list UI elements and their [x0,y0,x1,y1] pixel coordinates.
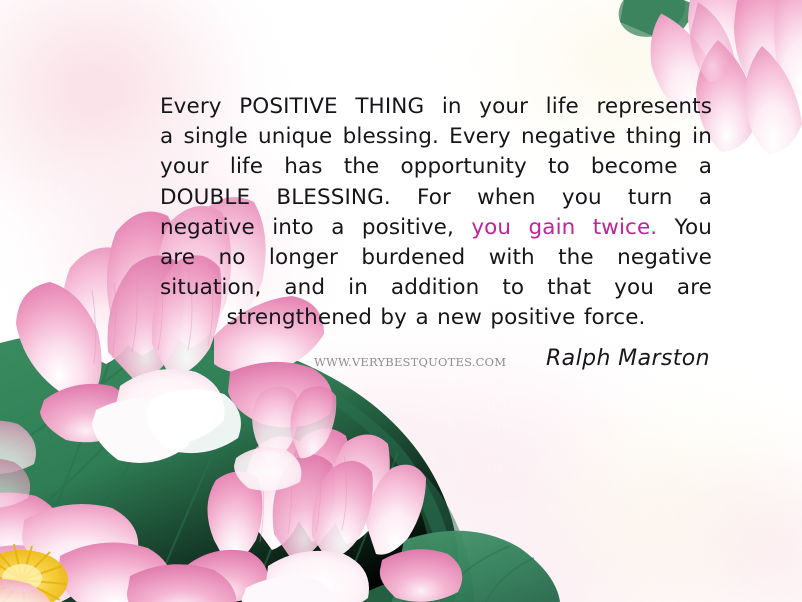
background-blossom-bottom-right [640,440,802,602]
quote-line-5-part-1: negative into a positive, [160,215,471,240]
quote-line-7: situation, and in addition to that you a… [160,273,712,303]
lily-pad-small-group [392,531,560,602]
quote-line-6: are no longer burdened with the negative [160,243,712,273]
quote-line-8: strengthened by a new positive force. [160,303,712,333]
quote-image-canvas: Every POSITIVE THING in your life repres… [0,0,802,602]
background-blossom-bottom-left [250,350,470,550]
lotus-bottom-left-group [0,493,237,602]
quote-line-2: a single unique blessing. Every negative… [160,122,712,152]
lotus-left-edge-faint-group [0,420,36,507]
background-blossom-bottom-center [380,500,700,602]
background-blossom-cream-bottom-right [520,390,802,602]
quote-author: Ralph Marston [546,346,710,371]
quote-line-5-part-2: You [657,215,712,240]
lotus-stamen-cluster [0,544,68,602]
quote-line-3: your life has the opportunity to become … [160,152,712,182]
lotus-bottom-center-group [184,428,462,602]
lotus-bottom-right-small-group [234,386,336,491]
quote-line-4: DOUBLE BLESSING. For when you turn a [160,183,712,213]
quote-highlight-phrase: you gain twice. [471,215,657,240]
quote-text-block: Every POSITIVE THING in your life repres… [160,92,712,334]
quote-line-5: negative into a positive, you gain twice… [160,213,712,243]
quote-line-1: Every POSITIVE THING in your life repres… [160,92,712,122]
lily-pad-large-group [0,328,474,602]
site-watermark: WWW.VERYBESTQUOTES.COM [314,355,506,369]
